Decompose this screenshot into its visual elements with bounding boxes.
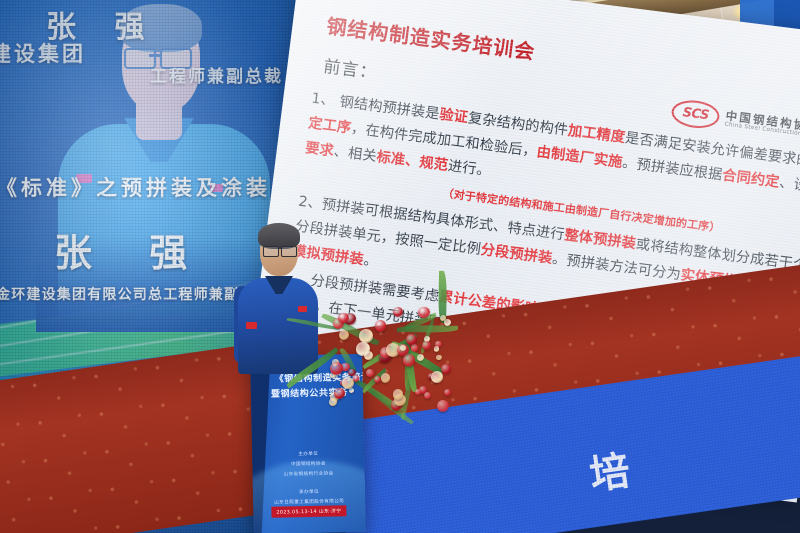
flower-blossom — [437, 400, 450, 413]
flower-blossom — [349, 388, 354, 393]
flower-blossom — [436, 355, 441, 360]
speaker-person — [234, 228, 320, 378]
flower-blossom — [359, 329, 373, 343]
flower-blossom — [424, 392, 431, 399]
flower-blossom — [381, 373, 391, 383]
flower-blossom — [338, 313, 348, 323]
flower-blossom — [375, 320, 387, 332]
flower-blossom — [422, 341, 431, 350]
flower-blossom — [330, 362, 343, 375]
flower-blossom — [353, 375, 360, 382]
flower-blossom — [329, 398, 337, 406]
flower-blossom — [339, 330, 350, 341]
flower-blossom — [444, 319, 451, 326]
flower-blossom — [403, 354, 416, 367]
flower-arrangement — [318, 298, 458, 418]
flower-blossom — [444, 389, 451, 396]
lectern-host-label: 主办单位 — [252, 450, 364, 458]
flower-blossom — [366, 369, 374, 377]
flower-blossom — [441, 364, 451, 374]
flower-blossom — [431, 371, 443, 383]
flower-leaf — [397, 325, 458, 333]
flower-blossom — [415, 389, 421, 395]
flower-blossom — [434, 346, 439, 351]
flower-blossom — [393, 307, 403, 317]
flower-blossom — [334, 388, 345, 399]
flower-blossom — [374, 376, 381, 383]
conference-photo: 张 强 建设集团 工程师兼副总裁 《标准》之预拼装及涂装 张 强 金环建设集团有… — [0, 0, 800, 533]
flower-blossom — [411, 344, 418, 351]
lectern-date: 2023.05.13-14 山东·济宁 — [271, 505, 346, 518]
flower-blossom — [418, 307, 429, 318]
